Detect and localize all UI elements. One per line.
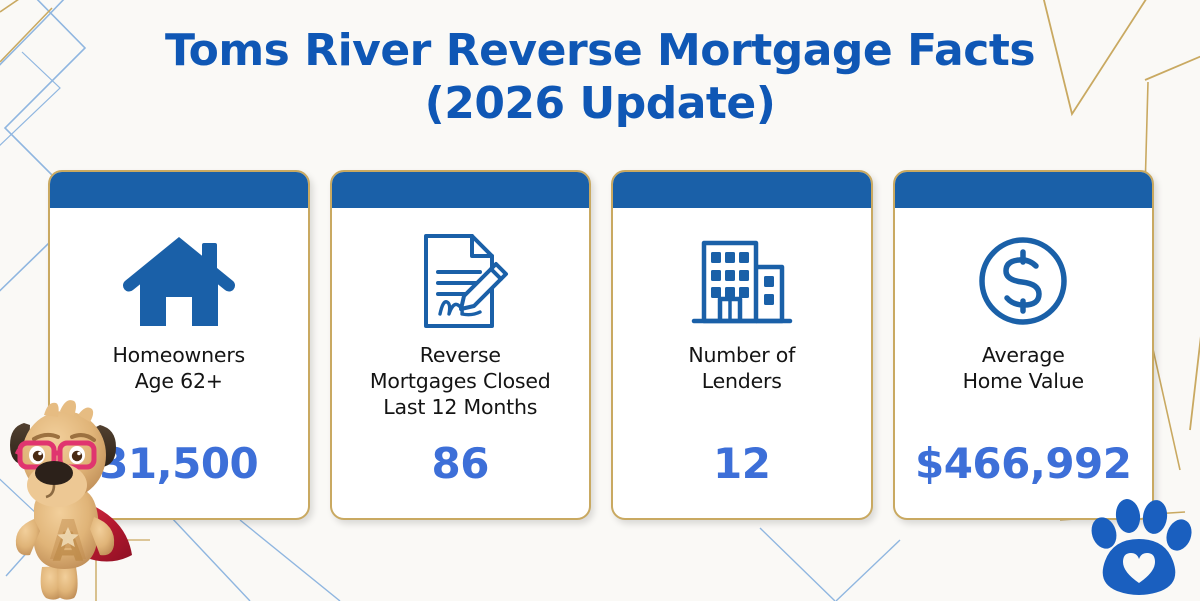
title-line-2: (2026 Update) — [0, 77, 1200, 130]
card-value: 12 — [713, 440, 770, 504]
title-line-1: Toms River Reverse Mortgage Facts — [0, 24, 1200, 77]
card-header-bar — [50, 172, 308, 208]
stat-card-home-value[interactable]: Average Home Value $466,992 — [893, 170, 1155, 520]
card-label-line: Reverse — [370, 342, 551, 368]
card-header-bar — [613, 172, 871, 208]
card-label: Number of Lenders — [684, 342, 799, 394]
stat-card-row: Homeowners Age 62+ 31,500 — [48, 170, 1154, 520]
card-body: Average Home Value $466,992 — [895, 208, 1153, 518]
infographic-canvas: Toms River Reverse Mortgage Facts (2026 … — [0, 0, 1200, 601]
card-label-line: Last 12 Months — [370, 394, 551, 420]
card-label-line: Lenders — [688, 368, 795, 394]
card-body: Reverse Mortgages Closed Last 12 Months … — [332, 208, 590, 518]
dollar-coin-icon — [972, 226, 1074, 336]
stat-card-mortgages-closed[interactable]: Reverse Mortgages Closed Last 12 Months … — [330, 170, 592, 520]
house-icon — [120, 226, 238, 336]
card-label: Average Home Value — [959, 342, 1088, 394]
card-value: 86 — [432, 440, 489, 504]
card-label-line: Home Value — [963, 368, 1084, 394]
page-title: Toms River Reverse Mortgage Facts (2026 … — [0, 24, 1200, 130]
signed-document-icon — [410, 226, 510, 336]
card-label: Reverse Mortgages Closed Last 12 Months — [366, 342, 555, 420]
card-value: $466,992 — [915, 440, 1132, 504]
card-label-line: Mortgages Closed — [370, 368, 551, 394]
card-label-line: Homeowners — [112, 342, 245, 368]
card-header-bar — [332, 172, 590, 208]
card-label-line: Average — [963, 342, 1084, 368]
card-body: Number of Lenders 12 — [613, 208, 871, 518]
card-header-bar — [895, 172, 1153, 208]
stat-card-lenders[interactable]: Number of Lenders 12 — [611, 170, 873, 520]
superhero-dog-mascot: A — [0, 381, 148, 601]
office-building-icon — [688, 226, 796, 336]
card-label-line: Number of — [688, 342, 795, 368]
paw-print-icon — [1084, 499, 1192, 595]
